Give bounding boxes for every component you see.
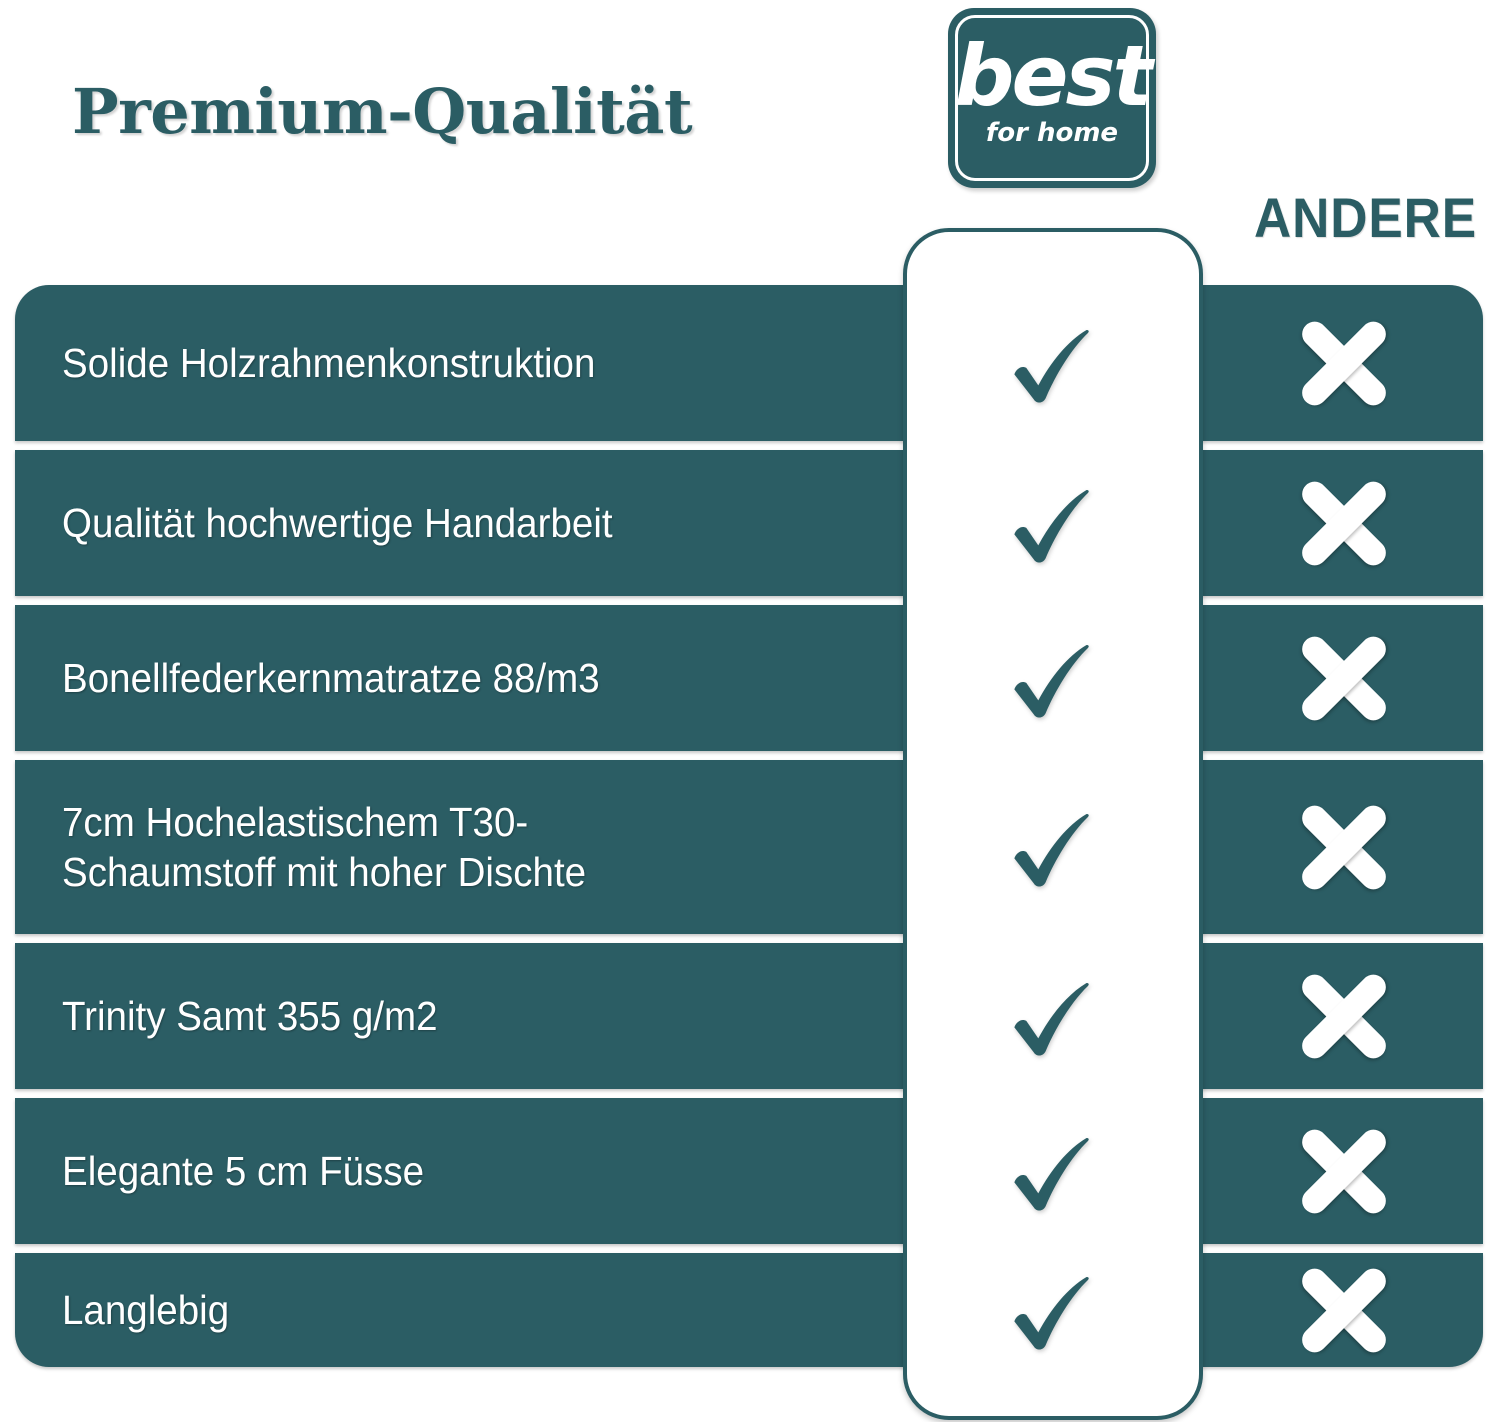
feature-label-line-1: Trinity Samt 355 g/m2 [62,993,438,1039]
check-icon [1007,636,1099,728]
table-row: Qualität hochwertige Handarbeit [15,450,1483,596]
others-column-cell [1205,799,1483,895]
feature-label: 7cm Hochelastischem T30-Schaumstoff mit … [15,797,842,897]
table-row: Langlebig [15,1253,1483,1367]
cross-icon [1296,968,1392,1064]
feature-label: Langlebig [15,1285,842,1335]
check-column [907,289,1199,1371]
table-row: Bonellfederkernmatratze 88/m3 [15,605,1483,751]
best-column-cell [907,454,1199,600]
others-column-cell [1205,475,1483,571]
check-icon [1007,974,1099,1066]
feature-label-line-2: Schaumstoff mit hoher Dischte [62,847,823,897]
check-icon [1007,321,1099,413]
feature-label: Elegante 5 cm Füsse [15,1146,842,1196]
best-for-home-column-panel [903,228,1203,1420]
others-column-cell [1205,1123,1483,1219]
feature-label: Qualität hochwertige Handarbeit [15,498,842,548]
check-icon [1007,1129,1099,1221]
table-row: Solide Holzrahmenkonstruktion [15,285,1483,441]
cross-icon [1296,475,1392,571]
feature-label: Bonellfederkernmatratze 88/m3 [15,653,842,703]
page-title: Premium-Qualität [72,75,692,148]
brand-logo: best for home [948,8,1156,188]
feature-label-line-1: Bonellfederkernmatratze 88/m3 [62,655,600,701]
check-icon [1007,805,1099,897]
feature-label-line-1: Langlebig [62,1287,229,1333]
others-column-cell [1205,968,1483,1064]
cross-icon [1296,1123,1392,1219]
feature-label: Trinity Samt 355 g/m2 [15,991,842,1041]
feature-label-line-1: Qualität hochwertige Handarbeit [62,500,613,546]
feature-label-line-1: Elegante 5 cm Füsse [62,1148,424,1194]
best-column-cell [907,289,1199,445]
comparison-table: Solide HolzrahmenkonstruktionQualität ho… [15,285,1483,1367]
best-column-cell [907,1257,1199,1371]
feature-label-line-1: Solide Holzrahmenkonstruktion [62,340,595,386]
cross-icon [1296,315,1392,411]
best-column-cell [907,764,1199,938]
cross-icon [1296,799,1392,895]
logo-brand-text: best [948,34,1156,118]
logo-tagline-text: for home [948,120,1156,146]
check-icon [1007,1268,1099,1360]
check-icon [1007,481,1099,573]
best-column-cell [907,1102,1199,1248]
others-column-header: ANDERE [1254,190,1477,246]
others-column-cell [1205,315,1483,411]
table-row: 7cm Hochelastischem T30-Schaumstoff mit … [15,760,1483,934]
cross-icon [1296,1262,1392,1358]
table-row: Elegante 5 cm Füsse [15,1098,1483,1244]
feature-label: Solide Holzrahmenkonstruktion [15,338,842,388]
cross-icon [1296,630,1392,726]
others-column-cell [1205,1262,1483,1358]
others-column-cell [1205,630,1483,726]
feature-label-line-1: 7cm Hochelastischem T30- [62,799,528,845]
best-column-cell [907,947,1199,1093]
table-row: Trinity Samt 355 g/m2 [15,943,1483,1089]
best-column-cell [907,609,1199,755]
